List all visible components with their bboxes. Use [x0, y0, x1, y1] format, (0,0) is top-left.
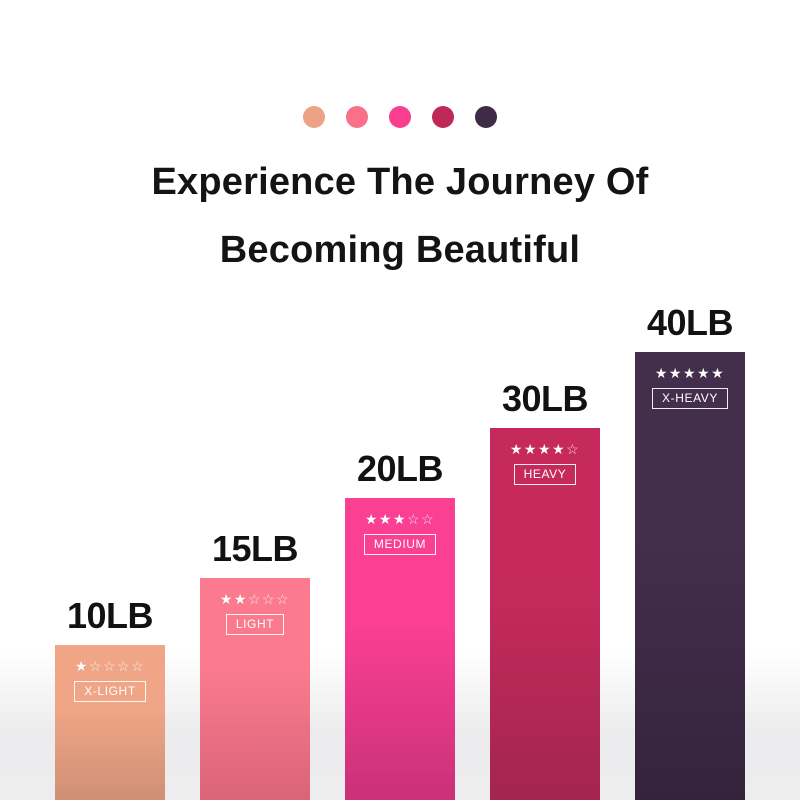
star-filled-icon: ★ [234, 591, 248, 607]
dot-x-heavy-icon [475, 106, 497, 128]
star-empty-icon: ☆ [248, 591, 262, 607]
bar-weight-label-15lb: 15LB [200, 528, 310, 570]
bar-40lb[interactable]: ★★★★★X-HEAVY [635, 352, 745, 800]
star-empty-icon: ☆ [407, 511, 421, 527]
bar-15lb[interactable]: ★★☆☆☆LIGHT [200, 578, 310, 800]
star-filled-icon: ★ [365, 511, 379, 527]
star-filled-icon: ★ [552, 441, 566, 457]
bar-30lb[interactable]: ★★★★☆HEAVY [490, 428, 600, 800]
star-filled-icon: ★ [524, 441, 538, 457]
star-filled-icon: ★ [655, 365, 669, 381]
star-rating-icon-15lb: ★★☆☆☆ [220, 592, 290, 606]
level-badge-heavy: HEAVY [514, 464, 577, 485]
page-title-line-2: Becoming Beautiful [0, 216, 800, 284]
bar-weight-label-20lb: 20LB [345, 448, 455, 490]
star-rating-icon-10lb: ★☆☆☆☆ [75, 659, 145, 673]
page-title: Experience The Journey Of Becoming Beaut… [0, 148, 800, 285]
bar-weight-label-30lb: 30LB [490, 378, 600, 420]
dot-medium-icon [389, 106, 411, 128]
bar-weight-label-40lb: 40LB [635, 302, 745, 344]
star-empty-icon: ☆ [103, 658, 117, 674]
star-empty-icon: ☆ [566, 441, 580, 457]
dot-x-light-icon [303, 106, 325, 128]
color-swatch-row [0, 105, 800, 129]
level-badge-light: LIGHT [226, 614, 284, 635]
star-empty-icon: ☆ [89, 658, 103, 674]
star-filled-icon: ★ [220, 591, 234, 607]
star-filled-icon: ★ [510, 441, 524, 457]
star-empty-icon: ☆ [421, 511, 435, 527]
bar-20lb[interactable]: ★★★☆☆MEDIUM [345, 498, 455, 800]
star-empty-icon: ☆ [117, 658, 131, 674]
star-filled-icon: ★ [379, 511, 393, 527]
star-rating-icon-30lb: ★★★★☆ [510, 442, 580, 456]
star-filled-icon: ★ [697, 365, 711, 381]
dot-heavy-icon [432, 106, 454, 128]
page-title-line-1: Experience The Journey Of [0, 148, 800, 216]
star-rating-icon-40lb: ★★★★★ [655, 366, 725, 380]
level-badge-medium: MEDIUM [364, 534, 436, 555]
star-filled-icon: ★ [669, 365, 683, 381]
star-filled-icon: ★ [393, 511, 407, 527]
star-filled-icon: ★ [683, 365, 697, 381]
level-badge-x-heavy: X-HEAVY [652, 388, 728, 409]
star-filled-icon: ★ [711, 365, 725, 381]
dot-light-icon [346, 106, 368, 128]
star-empty-icon: ☆ [276, 591, 290, 607]
bar-weight-label-10lb: 10LB [55, 595, 165, 637]
star-empty-icon: ☆ [131, 658, 145, 674]
star-filled-icon: ★ [75, 658, 89, 674]
star-empty-icon: ☆ [262, 591, 276, 607]
level-badge-x-light: X-LIGHT [74, 681, 146, 702]
star-filled-icon: ★ [538, 441, 552, 457]
star-rating-icon-20lb: ★★★☆☆ [365, 512, 435, 526]
bar-10lb[interactable]: ★☆☆☆☆X-LIGHT [55, 645, 165, 800]
